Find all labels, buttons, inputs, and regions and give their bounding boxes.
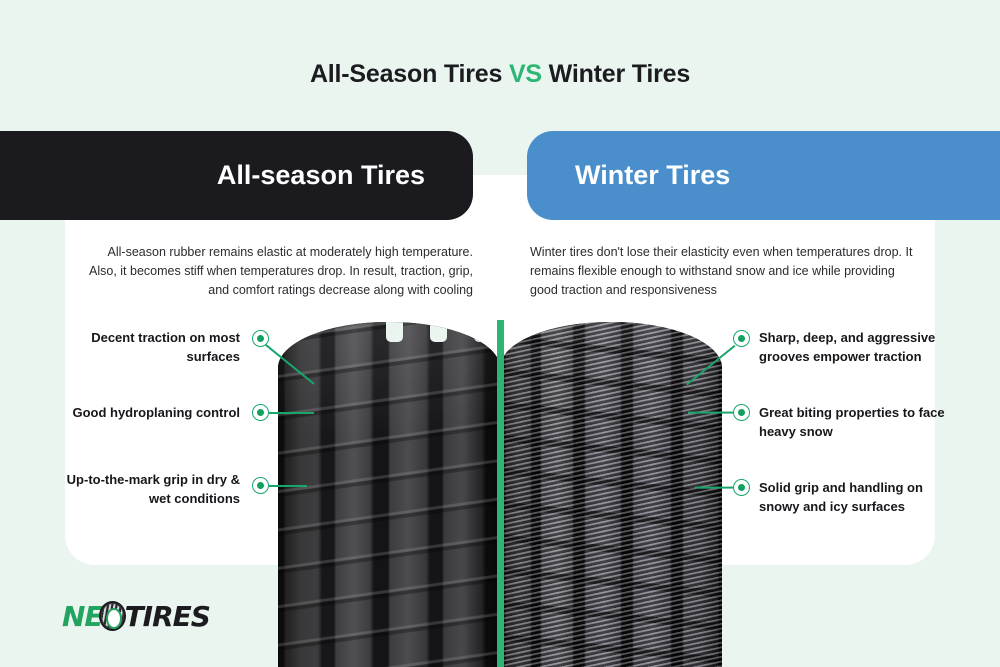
bullet-marker-icon: [252, 477, 269, 494]
feature-label-left-1: Decent traction on most surfaces: [60, 328, 240, 366]
tread-notch: [386, 322, 403, 342]
logo-text-neo: NE: [62, 600, 103, 633]
center-divider: [497, 320, 504, 667]
feature-label-right-3: Solid grip and handling on snowy and icy…: [759, 478, 949, 516]
tread-notch: [430, 322, 447, 342]
banner-all-season-label: All-season Tires: [217, 160, 425, 191]
tire-o-icon: [99, 601, 126, 631]
title-part-2: Winter Tires: [549, 60, 690, 88]
neo-tires-logo[interactable]: NE TIRES: [62, 599, 210, 633]
feature-label-right-1: Sharp, deep, and aggressive grooves empo…: [759, 328, 949, 366]
intro-all-season: All-season rubber remains elastic at mod…: [88, 243, 473, 300]
connector-line: [269, 485, 307, 487]
connector-line: [695, 487, 733, 489]
all-season-tire-photo: [278, 322, 500, 667]
intro-winter: Winter tires don't lose their elasticity…: [530, 243, 915, 300]
bullet-marker-icon: [733, 479, 750, 496]
bullet-marker-icon: [252, 404, 269, 421]
winter-tire-photo: [500, 322, 722, 667]
feature-label-left-3: Up-to-the-mark grip in dry & wet conditi…: [60, 470, 240, 508]
page-title: All-Season Tires VS Winter Tires: [0, 60, 1000, 89]
banner-winter-label: Winter Tires: [575, 160, 730, 191]
infographic-canvas: All-Season Tires VS Winter Tires All-sea…: [0, 0, 1000, 667]
title-vs: VS: [509, 60, 542, 88]
feature-label-left-2: Good hydroplaning control: [60, 403, 240, 422]
banner-all-season: All-season Tires: [0, 131, 473, 220]
bullet-marker-icon: [733, 330, 750, 347]
connector-line: [688, 412, 733, 414]
feature-label-right-2: Great biting properties to face heavy sn…: [759, 403, 949, 441]
banner-winter: Winter Tires: [527, 131, 1000, 220]
title-part-1: All-Season Tires: [310, 60, 502, 88]
winter-tread-pattern: [500, 322, 722, 667]
all-season-tread-pattern: [278, 322, 500, 667]
logo-text-tires: TIRES: [125, 600, 210, 633]
connector-line: [269, 412, 314, 414]
bullet-marker-icon: [733, 404, 750, 421]
tread-notch: [474, 322, 491, 342]
